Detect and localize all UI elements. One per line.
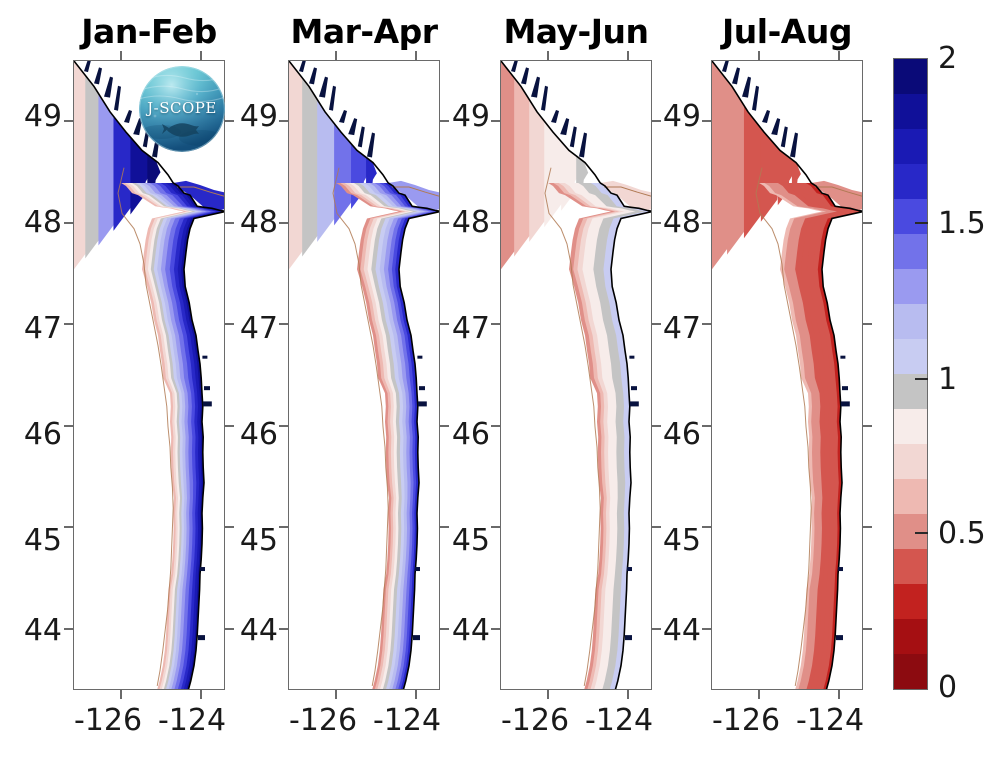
ytick-mark-p0-5	[64, 628, 73, 630]
colorbar-band-1	[894, 94, 927, 129]
ytick-label-49-p1: 49	[8, 99, 62, 134]
ytick-label-49-p2: 49	[224, 99, 278, 134]
colorbar-tickmark-1	[915, 378, 928, 380]
ytick-label-44-p1: 44	[8, 613, 62, 648]
ytick-mark-p1-5	[279, 628, 288, 630]
ytick-label-47-p1: 47	[8, 311, 62, 346]
xtick-mark-p0-1	[200, 690, 202, 699]
ytick-label-49-p4: 49	[647, 99, 701, 134]
colorbar-tickmark-0.5	[915, 532, 928, 534]
ytick-mark-p3-4	[702, 526, 711, 528]
map-panel-jul-aug	[711, 60, 863, 690]
ytick-label-47-p4: 47	[647, 311, 701, 346]
xtick-mark-top-p2-0	[547, 51, 549, 60]
map-raster-jan_feb	[74, 61, 225, 690]
colorbar-band-15	[894, 584, 927, 619]
ytick-mark-right-p2-0	[652, 120, 661, 122]
xtick-mark-top-p3-1	[838, 51, 840, 60]
ytick-mark-right-p3-2	[863, 323, 872, 325]
colorbar-band-6	[894, 269, 927, 304]
colorbar-label-2: 2	[938, 41, 957, 76]
colorbar-band-2	[894, 129, 927, 164]
ytick-mark-right-p1-1	[440, 222, 449, 224]
ytick-mark-p0-4	[64, 526, 73, 528]
colorbar-band-3	[894, 164, 927, 199]
ytick-mark-p2-2	[491, 323, 500, 325]
map-raster-jul_aug	[712, 61, 863, 690]
xtick-label-126-p1: -126	[68, 703, 148, 738]
panel-title-mar-apr: Mar-Apr	[288, 12, 440, 51]
xtick-label-124-p1: -124	[152, 703, 232, 738]
ytick-mark-right-p3-4	[863, 526, 872, 528]
colorbar-label-1.5: 1.5	[938, 206, 986, 241]
xtick-mark-p3-1	[838, 690, 840, 699]
colorbar-label-0: 0	[938, 670, 957, 705]
ytick-mark-right-p3-0	[863, 120, 872, 122]
colorbar-band-7	[894, 304, 927, 339]
ytick-mark-right-p3-3	[863, 425, 872, 427]
colorbar-label-1: 1	[938, 362, 957, 397]
colorbar-band-10	[894, 409, 927, 444]
ytick-mark-right-p2-4	[652, 526, 661, 528]
ytick-mark-right-p0-1	[225, 222, 234, 224]
xtick-mark-p1-0	[335, 690, 337, 699]
ytick-mark-p3-2	[702, 323, 711, 325]
xtick-label-126-p2: -126	[283, 703, 363, 738]
ytick-label-45-p1: 45	[8, 523, 62, 558]
ytick-label-44-p4: 44	[647, 613, 701, 648]
ytick-mark-p0-1	[64, 222, 73, 224]
ytick-label-44-p3: 44	[436, 613, 490, 648]
ytick-mark-right-p3-5	[863, 628, 872, 630]
ytick-mark-p2-1	[491, 222, 500, 224]
ytick-mark-right-p3-1	[863, 222, 872, 224]
ytick-label-47-p2: 47	[224, 311, 278, 346]
xtick-mark-p2-1	[627, 690, 629, 699]
ytick-mark-p3-5	[702, 628, 711, 630]
panel-title-jul-aug: Jul-Aug	[711, 12, 863, 51]
ytick-mark-p1-1	[279, 222, 288, 224]
xtick-mark-top-p2-1	[627, 51, 629, 60]
ytick-mark-p0-3	[64, 425, 73, 427]
ytick-mark-p2-0	[491, 120, 500, 122]
xtick-mark-p2-0	[547, 690, 549, 699]
panel-title-jan-feb: Jan-Feb	[73, 12, 225, 51]
map-raster-may_jun	[501, 61, 652, 690]
ytick-label-46-p4: 46	[647, 417, 701, 452]
ytick-mark-right-p1-2	[440, 323, 449, 325]
colorbar-band-8	[894, 339, 927, 374]
xtick-mark-p0-0	[120, 690, 122, 699]
ytick-mark-right-p1-4	[440, 526, 449, 528]
xtick-mark-top-p1-1	[415, 51, 417, 60]
ytick-mark-p2-5	[491, 628, 500, 630]
colorbar-band-16	[894, 619, 927, 654]
ytick-mark-p3-1	[702, 222, 711, 224]
ytick-mark-p1-3	[279, 425, 288, 427]
xtick-mark-top-p0-0	[120, 51, 122, 60]
xtick-label-124-p2: -124	[367, 703, 447, 738]
xtick-mark-top-p1-0	[335, 51, 337, 60]
colorbar-band-12	[894, 479, 927, 514]
colorbar-band-5	[894, 234, 927, 269]
ytick-mark-right-p1-5	[440, 628, 449, 630]
colorbar-tickmark-1.5	[915, 222, 928, 224]
xtick-label-126-p3: -126	[495, 703, 575, 738]
map-raster-mar_apr	[289, 61, 440, 690]
ytick-mark-p2-3	[491, 425, 500, 427]
map-panel-may-jun	[500, 60, 652, 690]
xtick-label-126-p4: -126	[706, 703, 786, 738]
ytick-mark-right-p2-2	[652, 323, 661, 325]
ytick-mark-right-p0-5	[225, 628, 234, 630]
ytick-mark-right-p2-1	[652, 222, 661, 224]
colorbar-band-4	[894, 199, 927, 234]
xtick-mark-p1-1	[415, 690, 417, 699]
ytick-mark-p1-4	[279, 526, 288, 528]
ytick-mark-p0-0	[64, 120, 73, 122]
ytick-mark-right-p0-3	[225, 425, 234, 427]
ytick-mark-p1-2	[279, 323, 288, 325]
xtick-mark-p3-0	[758, 690, 760, 699]
ytick-mark-p2-4	[491, 526, 500, 528]
ytick-label-44-p2: 44	[224, 613, 278, 648]
colorbar-band-11	[894, 444, 927, 479]
ytick-mark-p1-0	[279, 120, 288, 122]
ytick-mark-p0-2	[64, 323, 73, 325]
figure-root: Jan-Feb Mar-Apr May-Jun Jul-Aug 49 48 47…	[0, 0, 1000, 761]
ytick-label-49-p3: 49	[436, 99, 490, 134]
ytick-mark-p3-3	[702, 425, 711, 427]
ytick-label-48-p1: 48	[8, 205, 62, 240]
ytick-label-46-p3: 46	[436, 417, 490, 452]
map-panel-jan-feb	[73, 60, 225, 690]
xtick-label-124-p4: -124	[790, 703, 870, 738]
colorbar-band-0	[894, 59, 927, 94]
xtick-mark-top-p3-0	[758, 51, 760, 60]
ytick-label-46-p1: 46	[8, 417, 62, 452]
ytick-label-47-p3: 47	[436, 311, 490, 346]
ytick-mark-right-p2-5	[652, 628, 661, 630]
jscope-logo: J-SCOPE	[139, 66, 225, 152]
colorbar	[893, 58, 928, 690]
jscope-logo-text: J-SCOPE	[139, 99, 225, 117]
ytick-mark-right-p2-3	[652, 425, 661, 427]
ytick-label-46-p2: 46	[224, 417, 278, 452]
colorbar-label-0.5: 0.5	[938, 516, 986, 551]
ytick-mark-right-p0-0	[225, 120, 234, 122]
ytick-mark-right-p0-2	[225, 323, 234, 325]
ytick-mark-p3-0	[702, 120, 711, 122]
map-panel-mar-apr	[288, 60, 440, 690]
ytick-mark-right-p0-4	[225, 526, 234, 528]
xtick-mark-top-p0-1	[200, 51, 202, 60]
xtick-label-124-p3: -124	[579, 703, 659, 738]
ytick-mark-right-p1-0	[440, 120, 449, 122]
panel-title-may-jun: May-Jun	[500, 12, 652, 51]
colorbar-band-14	[894, 549, 927, 584]
colorbar-band-17	[894, 654, 927, 689]
ytick-mark-right-p1-3	[440, 425, 449, 427]
